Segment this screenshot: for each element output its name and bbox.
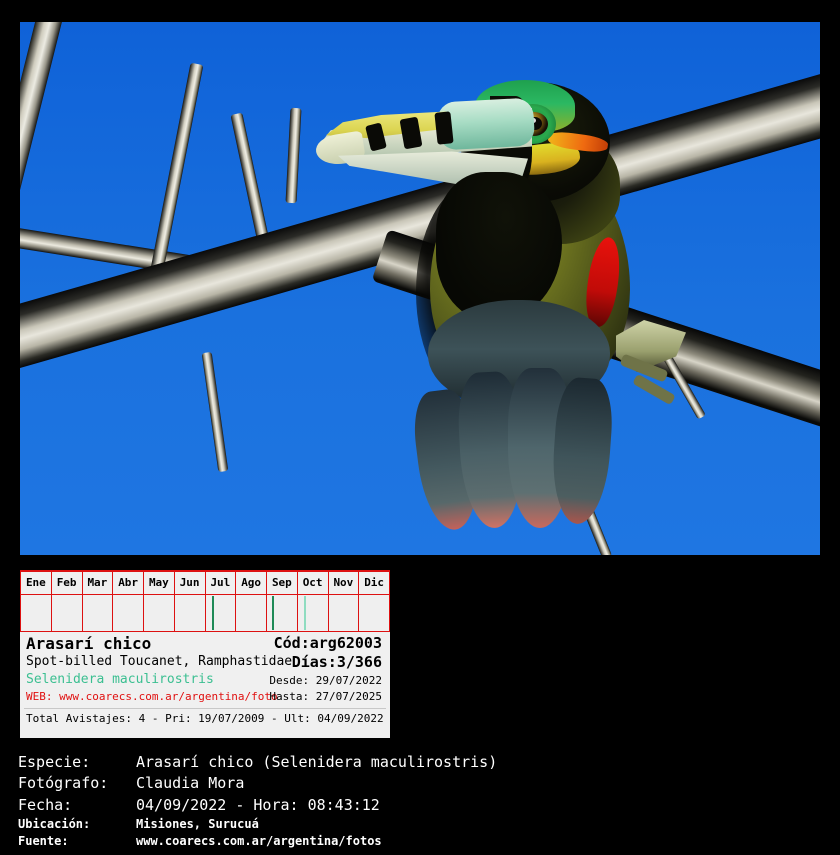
month-header-sep: Sep: [267, 571, 298, 595]
month-header-jun: Jun: [174, 571, 205, 595]
fuente-label: Fuente:: [18, 833, 136, 850]
code-line: Cód:arg62003: [274, 634, 382, 653]
month-header-ene: Ene: [21, 571, 52, 595]
calendar-sighting-row: [21, 595, 390, 632]
bill-spot: [434, 111, 453, 144]
month-header-jul: Jul: [205, 571, 236, 595]
month-cell-jul[interactable]: [205, 595, 236, 632]
from-label: Desde:: [269, 674, 309, 687]
species-info-block: Arasarí chico Spot-billed Toucanet, Ramp…: [20, 632, 390, 694]
ubicacion-label: Ubicación:: [18, 816, 136, 833]
sighting-marker: [304, 596, 306, 630]
days-label: Días:: [292, 653, 337, 671]
month-cell-may[interactable]: [144, 595, 175, 632]
species-photo: [20, 22, 820, 555]
month-cell-dic[interactable]: [359, 595, 390, 632]
from-line: Desde: 29/07/2022: [269, 674, 382, 688]
totals-line: Total Avistajes: 4 - Pri: 19/07/2009 - U…: [26, 712, 384, 726]
month-calendar-table: Ene Feb Mar Abr May Jun Jul Ago Sep Oct …: [20, 570, 390, 632]
sighting-marker: [212, 596, 214, 630]
month-header-dic: Dic: [359, 571, 390, 595]
species-english-name: Spot-billed Toucanet, Ramphastidae: [26, 654, 292, 670]
days-line: Días:3/366: [292, 653, 382, 672]
sighting-marker: [272, 596, 274, 630]
species-web-line[interactable]: WEB: www.coarecs.com.ar/argentina/foto: [26, 690, 278, 704]
month-cell-sep[interactable]: [267, 595, 298, 632]
photo-metadata: Especie: Arasarí chico (Selenidera macul…: [18, 752, 822, 851]
species-scientific-name: Selenidera maculirostris: [26, 672, 214, 688]
month-header-mar: Mar: [82, 571, 113, 595]
web-label: WEB:: [26, 690, 53, 703]
code-label: Cód:: [274, 634, 310, 652]
month-header-feb: Feb: [51, 571, 82, 595]
ubicacion-value: Misiones, Surucuá: [136, 816, 259, 833]
web-url[interactable]: www.coarecs.com.ar/argentina/foto: [59, 690, 278, 703]
fotografo-value: Claudia Mora: [136, 773, 244, 794]
especie-value: Arasarí chico (Selenidera maculirostris): [136, 752, 497, 773]
fotografo-label: Fotógrafo:: [18, 773, 136, 794]
to-line: Hasta: 27/07/2025: [269, 690, 382, 704]
meta-row-fotografo: Fotógrafo: Claudia Mora: [18, 773, 822, 794]
month-header-ago: Ago: [236, 571, 267, 595]
month-cell-jun[interactable]: [174, 595, 205, 632]
bird-tail: [416, 362, 616, 532]
month-cell-feb[interactable]: [51, 595, 82, 632]
divider: [24, 708, 386, 709]
code-value: arg62003: [310, 634, 382, 652]
month-cell-oct[interactable]: [297, 595, 328, 632]
from-value: 29/07/2022: [316, 674, 382, 687]
toucanet-bird: [320, 62, 720, 532]
month-cell-ene[interactable]: [21, 595, 52, 632]
fecha-value: 04/09/2022 - Hora: 08:43:12: [136, 795, 380, 816]
meta-row-fuente: Fuente: www.coarecs.com.ar/argentina/fot…: [18, 833, 822, 850]
to-value: 27/07/2025: [316, 690, 382, 703]
month-cell-nov[interactable]: [328, 595, 359, 632]
meta-row-fecha: Fecha: 04/09/2022 - Hora: 08:43:12: [18, 795, 822, 816]
to-label: Hasta:: [269, 690, 309, 703]
sighting-calendar-card: Ene Feb Mar Abr May Jun Jul Ago Sep Oct …: [20, 570, 390, 738]
especie-label: Especie:: [18, 752, 136, 773]
fuente-value[interactable]: www.coarecs.com.ar/argentina/fotos: [136, 833, 382, 850]
month-cell-mar[interactable]: [82, 595, 113, 632]
fecha-label: Fecha:: [18, 795, 136, 816]
days-value: 3/366: [337, 653, 382, 671]
meta-row-especie: Especie: Arasarí chico (Selenidera macul…: [18, 752, 822, 773]
month-cell-abr[interactable]: [113, 595, 144, 632]
month-header-abr: Abr: [113, 571, 144, 595]
meta-row-ubicacion: Ubicación: Misiones, Surucuá: [18, 816, 822, 833]
species-common-name: Arasarí chico: [26, 634, 151, 654]
month-cell-ago[interactable]: [236, 595, 267, 632]
month-header-oct: Oct: [297, 571, 328, 595]
month-header-nov: Nov: [328, 571, 359, 595]
month-header-may: May: [144, 571, 175, 595]
calendar-header-row: Ene Feb Mar Abr May Jun Jul Ago Sep Oct …: [21, 571, 390, 595]
